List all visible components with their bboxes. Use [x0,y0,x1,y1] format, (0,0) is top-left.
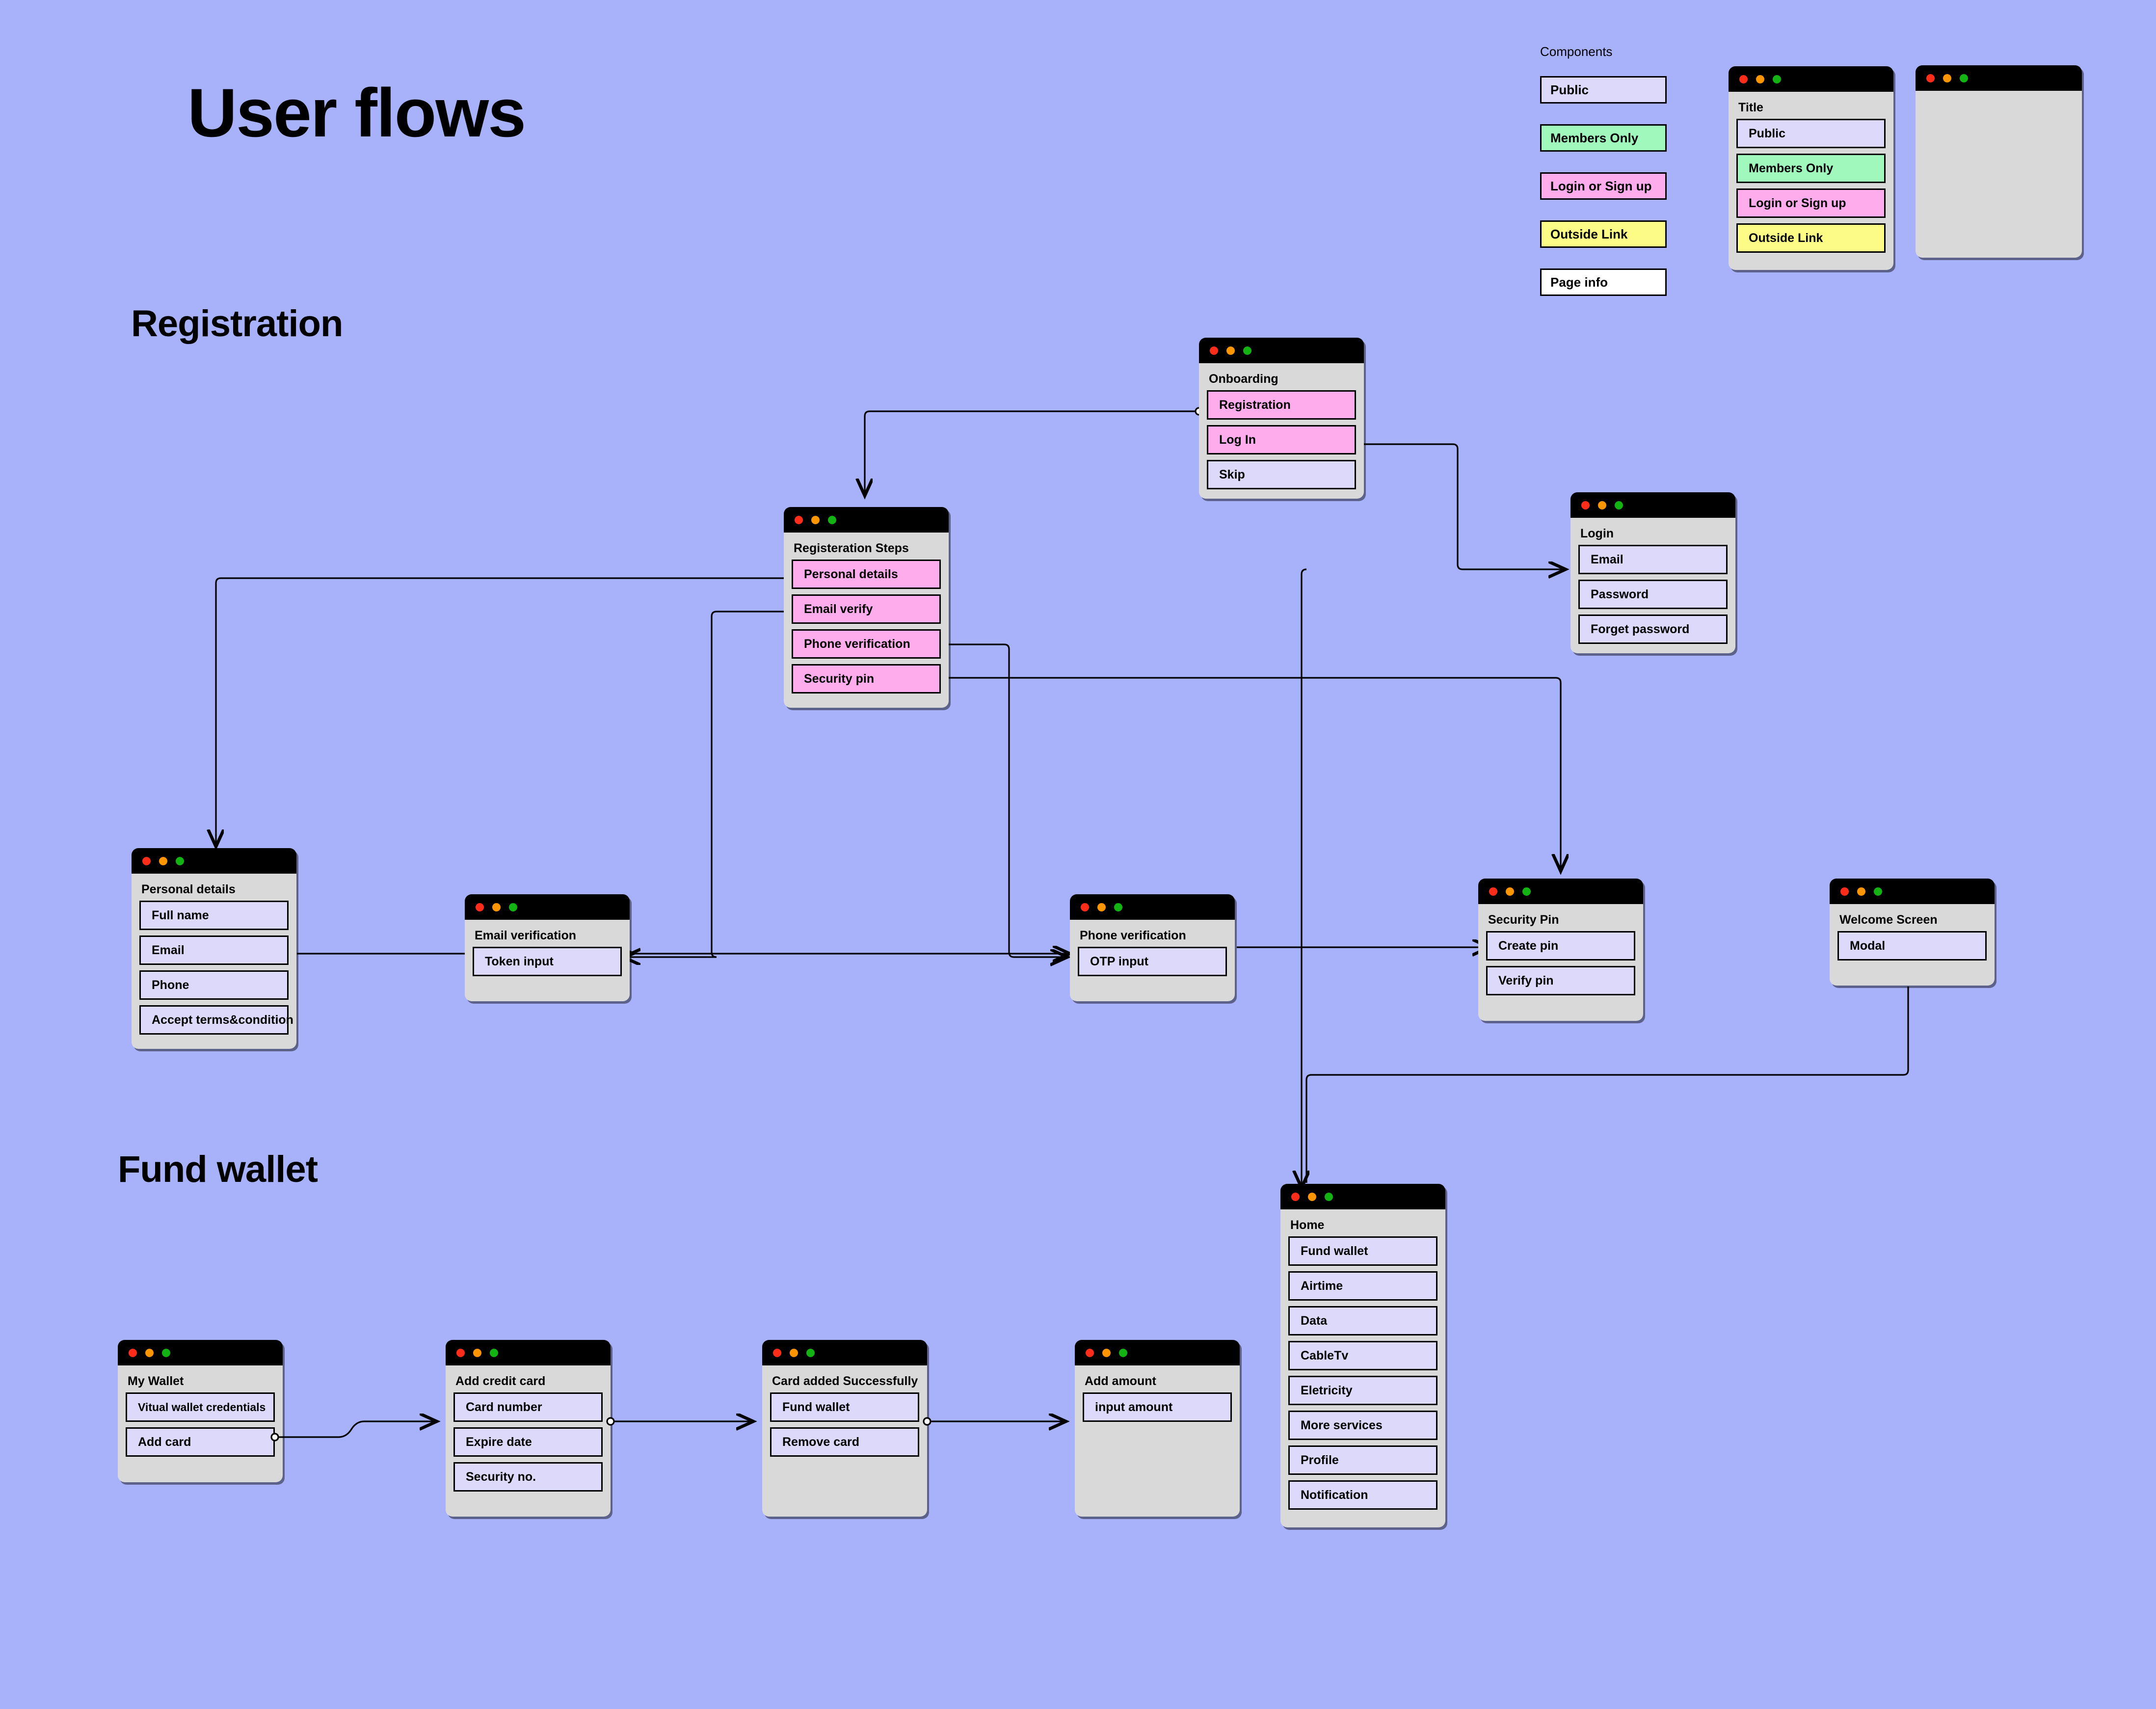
window-body: Title Public Members Only Login or Sign … [1729,92,1893,262]
minimize-icon[interactable] [1226,347,1235,355]
close-icon[interactable] [773,1349,781,1357]
close-icon[interactable] [795,516,803,524]
row-public[interactable]: Public [1736,119,1886,148]
window-body: Registeration Steps Personal details Ema… [784,533,949,702]
window-body: Welcome Screen Modal [1830,904,1995,969]
close-icon[interactable] [1489,887,1497,896]
window-title: Card added Successfully [772,1374,919,1389]
window-titlebar [762,1340,927,1365]
window-titlebar [465,894,630,920]
page-title: User flows [187,79,525,147]
window-body: Phone verification OTP input [1070,920,1235,985]
screen-registration-steps: Registeration Steps Personal details Ema… [784,507,949,708]
maximize-icon[interactable] [1615,501,1623,509]
close-icon[interactable] [1086,1349,1094,1357]
row-email[interactable]: Email [1578,545,1728,574]
row-modal[interactable]: Modal [1837,931,1987,961]
minimize-icon[interactable] [473,1349,481,1357]
maximize-icon[interactable] [828,516,836,524]
window-title: Phone verification [1080,929,1227,943]
row-virtual-wallet-credentials[interactable]: Vitual wallet credentials [126,1392,275,1422]
row-password[interactable]: Password [1578,580,1728,609]
window-title: Personal details [141,882,289,897]
row-security-pin[interactable]: Security pin [792,664,941,694]
screen-login: Login Email Password Forget password [1570,492,1735,653]
legend-chip-login-signup[interactable]: Login or Sign up [1540,172,1667,200]
legend-chip-page-info[interactable]: Page info [1540,268,1667,296]
window-titlebar [446,1340,611,1365]
window-titlebar [1070,894,1235,920]
close-icon[interactable] [1081,903,1089,911]
legend-heading: Components [1540,44,1612,59]
row-data[interactable]: Data [1288,1306,1437,1335]
row-profile[interactable]: Profile [1288,1445,1437,1475]
row-card-number[interactable]: Card number [453,1392,603,1422]
screen-onboarding: Onboarding Registration Log In Skip [1199,338,1364,499]
maximize-icon[interactable] [1114,903,1122,911]
row-verify-pin[interactable]: Verify pin [1486,966,1635,995]
maximize-icon[interactable] [509,903,517,911]
window-body: Home Fund wallet Airtime Data CableTv El… [1280,1209,1445,1519]
window-title: Add credit card [455,1374,603,1389]
row-input-amount[interactable]: input amount [1083,1392,1232,1422]
minimize-icon[interactable] [1506,887,1514,896]
window-body: Personal details Full name Email Phone A… [132,874,296,1043]
row-expire-date[interactable]: Expire date [453,1427,603,1457]
screen-email-verification: Email verification Token input [465,894,630,1001]
legend-sample-window: Title Public Members Only Login or Sign … [1729,66,1893,270]
minimize-icon[interactable] [1857,887,1865,896]
screen-security-pin: Security Pin Create pin Verify pin [1478,879,1643,1021]
screen-card-added: Card added Successfully Fund wallet Remo… [762,1340,927,1517]
window-titlebar [784,507,949,533]
row-remove-card[interactable]: Remove card [770,1427,919,1457]
maximize-icon[interactable] [1243,347,1251,355]
close-icon[interactable] [1840,887,1849,896]
screen-add-credit-card: Add credit card Card number Expire date … [446,1340,611,1517]
window-titlebar [1478,879,1643,904]
row-more-services[interactable]: More services [1288,1411,1437,1440]
minimize-icon[interactable] [1598,501,1606,509]
legend-chip-members-only[interactable]: Members Only [1540,124,1667,152]
window-body: Add amount input amount [1075,1365,1240,1431]
window-body: Add credit card Card number Expire date … [446,1365,611,1500]
window-titlebar [1570,492,1735,518]
minimize-icon[interactable] [1308,1193,1316,1201]
window-title: Login [1580,527,1728,541]
window-body: Login Email Password Forget password [1570,518,1735,653]
window-title: Welcome Screen [1839,913,1987,927]
minimize-icon[interactable] [790,1349,798,1357]
screen-add-amount: Add amount input amount [1075,1340,1240,1517]
window-titlebar [1199,338,1364,363]
row-notification[interactable]: Notification [1288,1480,1437,1510]
maximize-icon[interactable] [1773,75,1781,83]
minimize-icon[interactable] [492,903,501,911]
maximize-icon[interactable] [1960,74,1968,82]
legend-empty-window [1916,65,2082,258]
row-add-card[interactable]: Add card [126,1427,275,1457]
row-email-verify[interactable]: Email verify [792,594,941,624]
row-forget-password[interactable]: Forget password [1578,614,1728,644]
maximize-icon[interactable] [1325,1193,1333,1201]
section-heading-fund-wallet: Fund wallet [118,1151,318,1188]
maximize-icon[interactable] [1522,887,1531,896]
window-titlebar [1830,879,1995,904]
close-icon[interactable] [1739,75,1748,83]
row-accept-terms[interactable]: Accept terms&condition [139,1005,289,1035]
legend-chip-outside-link[interactable]: Outside Link [1540,220,1667,248]
window-body: My Wallet Vitual wallet credentials Add … [118,1365,283,1466]
screen-home: Home Fund wallet Airtime Data CableTv El… [1280,1184,1445,1527]
row-outside-link[interactable]: Outside Link [1736,223,1886,253]
maximize-icon[interactable] [490,1349,498,1357]
window-body: Card added Successfully Fund wallet Remo… [762,1365,927,1466]
close-icon[interactable] [1581,501,1590,509]
row-email[interactable]: Email [139,935,289,965]
screen-my-wallet: My Wallet Vitual wallet credentials Add … [118,1340,283,1482]
minimize-icon[interactable] [811,516,820,524]
row-fund-wallet[interactable]: Fund wallet [1288,1236,1437,1266]
close-icon[interactable] [456,1349,465,1357]
row-skip[interactable]: Skip [1207,460,1356,489]
row-electricity[interactable]: Eletricity [1288,1376,1437,1405]
window-title: Onboarding [1209,372,1356,386]
window-titlebar [118,1340,283,1365]
row-full-name[interactable]: Full name [139,901,289,930]
window-title: My Wallet [128,1374,275,1389]
maximize-icon[interactable] [176,857,184,865]
window-body [1916,91,2082,107]
minimize-icon[interactable] [1943,74,1951,82]
screen-phone-verification: Phone verification OTP input [1070,894,1235,1001]
close-icon[interactable] [1210,347,1218,355]
row-cabletv[interactable]: CableTv [1288,1341,1437,1370]
window-title: Title [1738,101,1886,115]
maximize-icon[interactable] [162,1349,170,1357]
row-otp-input[interactable]: OTP input [1078,947,1227,976]
window-title: Email verification [475,929,622,943]
window-title: Registeration Steps [794,541,941,556]
minimize-icon[interactable] [1097,903,1106,911]
close-icon[interactable] [142,857,151,865]
minimize-icon[interactable] [159,857,167,865]
row-phone[interactable]: Phone [139,970,289,1000]
close-icon[interactable] [1926,74,1935,82]
row-airtime[interactable]: Airtime [1288,1271,1437,1301]
window-body: Security Pin Create pin Verify pin [1478,904,1643,1004]
row-registration[interactable]: Registration [1207,390,1356,420]
row-login-signup[interactable]: Login or Sign up [1736,188,1886,218]
row-phone-verification[interactable]: Phone verification [792,629,941,659]
window-body: Onboarding Registration Log In Skip [1199,363,1364,498]
window-title: Add amount [1085,1374,1232,1389]
minimize-icon[interactable] [1102,1349,1111,1357]
flow-canvas: User flows Registration Fund wallet Comp… [0,0,2156,1709]
window-body: Email verification Token input [465,920,630,985]
maximize-icon[interactable] [806,1349,815,1357]
close-icon[interactable] [129,1349,137,1357]
row-security-no[interactable]: Security no. [453,1462,603,1492]
minimize-icon[interactable] [1756,75,1764,83]
close-icon[interactable] [1291,1193,1300,1201]
close-icon[interactable] [476,903,484,911]
maximize-icon[interactable] [1119,1349,1127,1357]
window-titlebar [1075,1340,1240,1365]
window-titlebar [1916,65,2082,91]
screen-personal-details: Personal details Full name Email Phone A… [132,848,296,1049]
window-title: Home [1290,1218,1437,1232]
window-titlebar [1729,66,1893,92]
window-titlebar [1280,1184,1445,1209]
minimize-icon[interactable] [145,1349,154,1357]
row-create-pin[interactable]: Create pin [1486,931,1635,961]
row-members-only[interactable]: Members Only [1736,154,1886,183]
row-personal-details[interactable]: Personal details [792,560,941,589]
window-title: Security Pin [1488,913,1635,927]
row-log-in[interactable]: Log In [1207,425,1356,454]
row-fund-wallet[interactable]: Fund wallet [770,1392,919,1422]
maximize-icon[interactable] [1874,887,1882,896]
screen-welcome-screen: Welcome Screen Modal [1830,879,1995,986]
row-token-input[interactable]: Token input [473,947,622,976]
section-heading-registration: Registration [131,305,343,343]
window-titlebar [132,848,296,874]
legend-chip-public[interactable]: Public [1540,76,1667,104]
